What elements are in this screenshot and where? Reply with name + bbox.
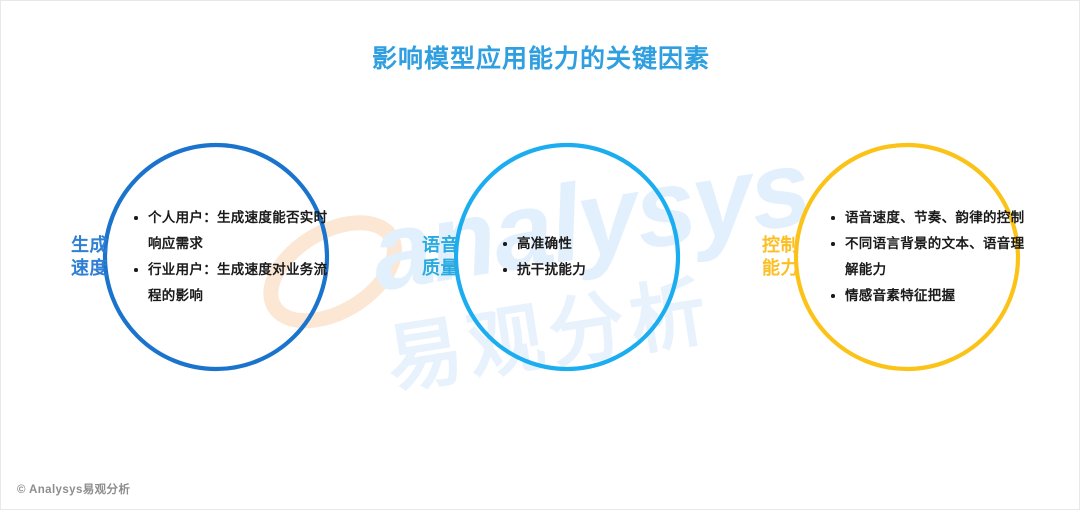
group-label-3: 控制 能力 [762, 234, 799, 280]
list-item: 语音速度、节奏、韵律的控制 [830, 205, 1025, 231]
copyright-footer: © Analysys易观分析 [17, 481, 130, 497]
group-label-1: 生成 速度 [71, 234, 108, 280]
list-item: 抗干扰能力 [502, 257, 672, 283]
group-label-3-line1: 控制 [762, 234, 799, 257]
page-title: 影响模型应用能力的关键因素 [1, 39, 1080, 75]
group-label-2: 语音 质量 [422, 234, 459, 280]
factor-group-control-ability: 控制 能力 语音速度、节奏、韵律的控制 不同语言背景的文本、语音理解能力 情感音… [792, 141, 1022, 373]
slide-canvas: analysys 易观分析 影响模型应用能力的关键因素 生成 速度 个人用户：生… [0, 0, 1080, 510]
list-item: 不同语言背景的文本、语音理解能力 [830, 231, 1025, 283]
factor-group-voice-quality: 语音 质量 高准确性 抗干扰能力 [452, 141, 682, 373]
group-label-1-line2: 速度 [71, 257, 108, 280]
list-item: 情感音素特征把握 [830, 283, 1025, 309]
list-item: 个人用户：生成速度能否实时响应需求 [133, 205, 333, 257]
group-label-3-line2: 能力 [762, 257, 799, 280]
group-label-2-line2: 质量 [422, 257, 459, 280]
list-item: 高准确性 [502, 231, 672, 257]
bullet-list-1: 个人用户：生成速度能否实时响应需求 行业用户：生成速度对业务流程的影响 [133, 205, 333, 309]
group-label-1-line1: 生成 [71, 234, 108, 257]
bullet-list-3: 语音速度、节奏、韵律的控制 不同语言背景的文本、语音理解能力 情感音素特征把握 [830, 205, 1025, 309]
factor-group-generation-speed: 生成 速度 个人用户：生成速度能否实时响应需求 行业用户：生成速度对业务流程的影… [101, 141, 331, 373]
list-item: 行业用户：生成速度对业务流程的影响 [133, 257, 333, 309]
bullet-list-2: 高准确性 抗干扰能力 [502, 231, 672, 283]
group-label-2-line1: 语音 [422, 234, 459, 257]
